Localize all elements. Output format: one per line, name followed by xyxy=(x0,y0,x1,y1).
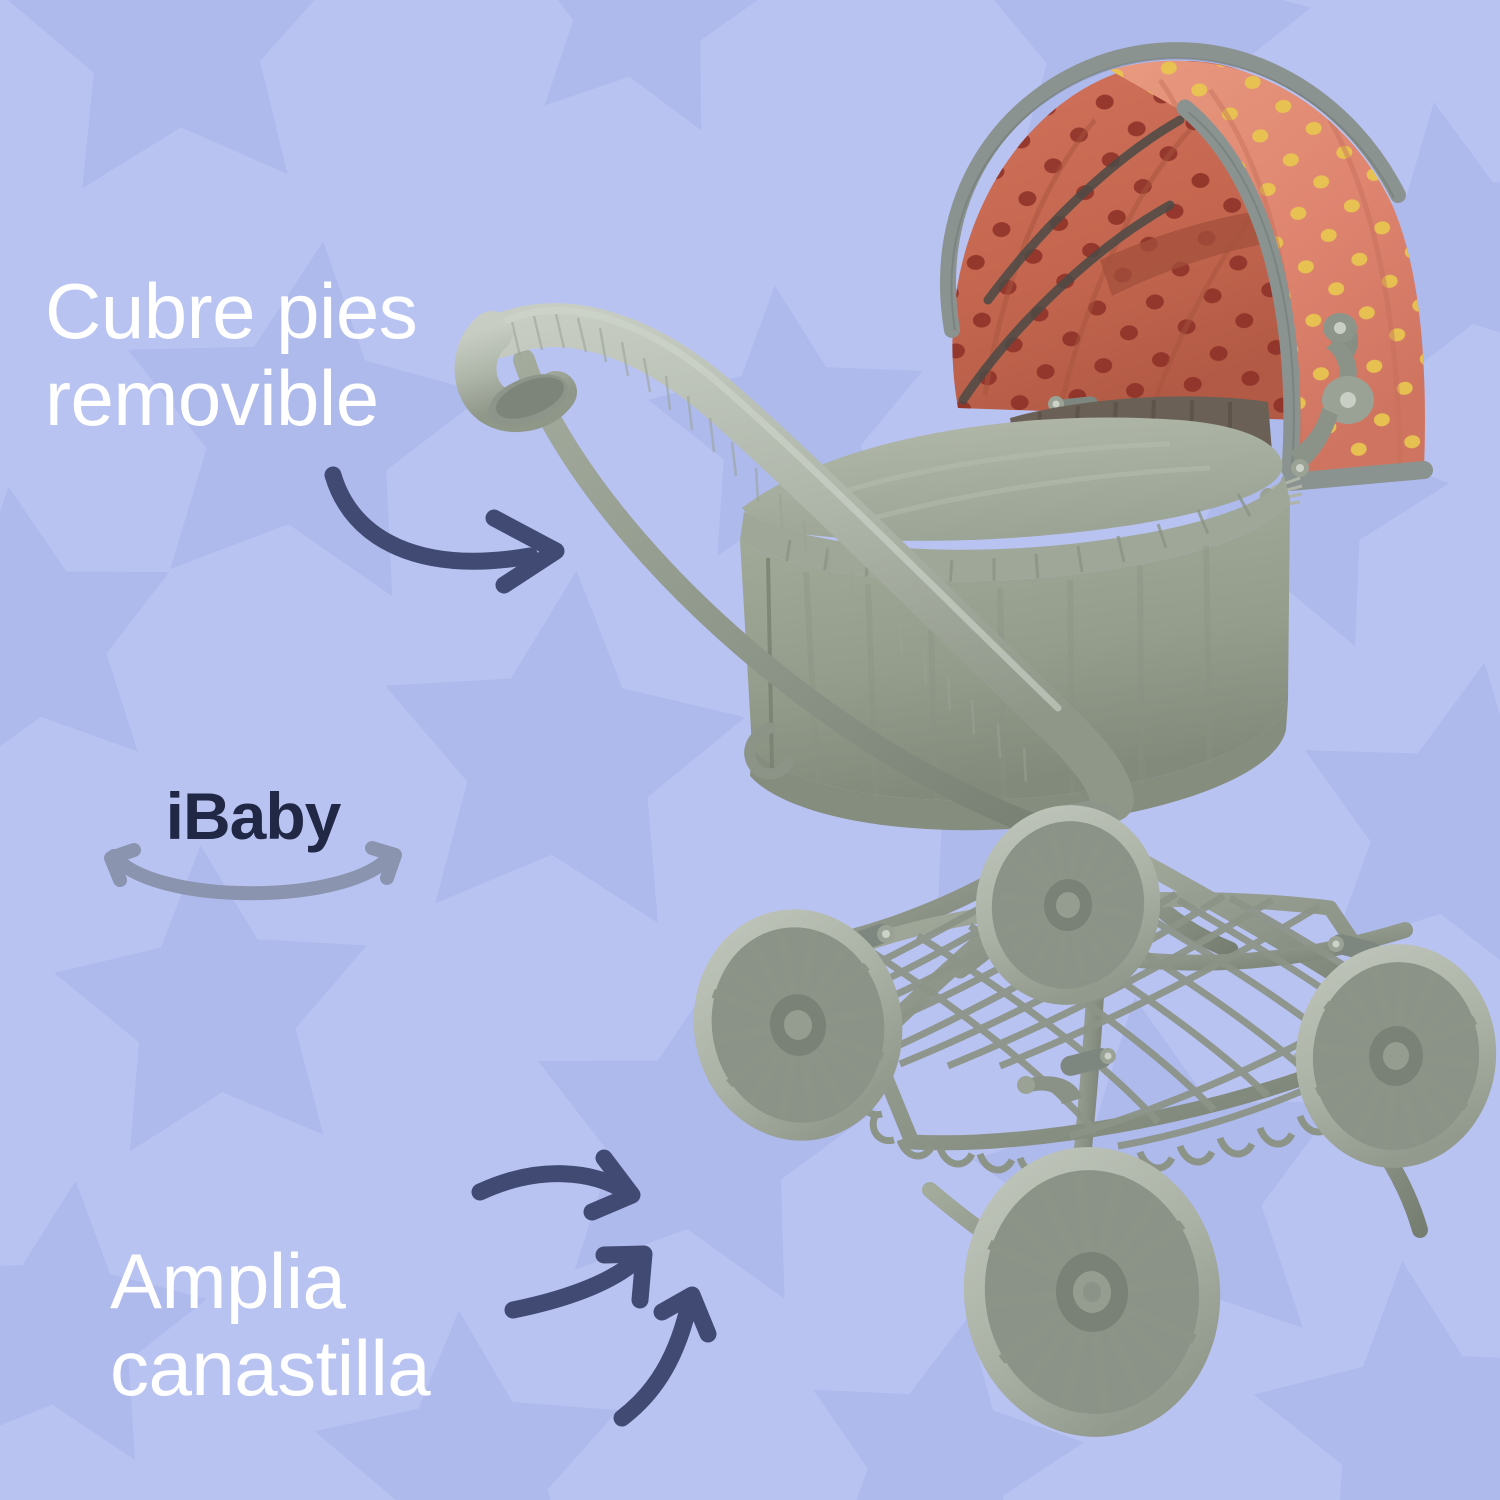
arrow-canastilla-bottom xyxy=(622,1295,708,1418)
feature-label-amplia-canastilla: Amplia canastilla xyxy=(110,1238,430,1413)
promo-image-canvas: iBaby Cubre pies removible Amplia canast… xyxy=(0,0,1500,1500)
brand-logo-smile-arc xyxy=(98,778,408,918)
feature-label-cubre-pies: Cubre pies removible xyxy=(45,268,417,443)
arrow-cubre-pies xyxy=(333,475,556,585)
brand-logo: iBaby xyxy=(98,778,408,918)
arrow-canastilla-top xyxy=(480,1158,632,1212)
arrow-canastilla-middle xyxy=(513,1254,644,1310)
